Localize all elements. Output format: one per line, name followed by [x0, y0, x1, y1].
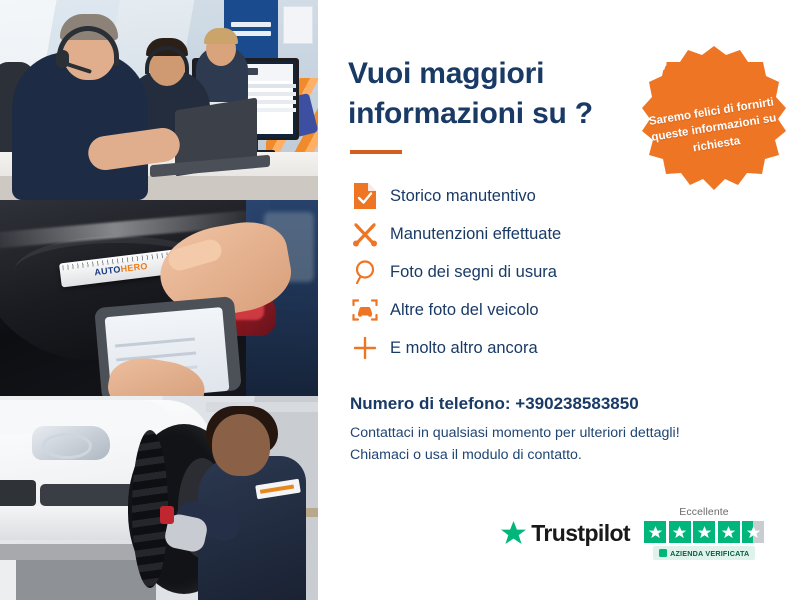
list-item: Manutenzioni effettuate — [350, 215, 760, 253]
page-title: Vuoi maggiori informazioni su ? — [348, 54, 648, 133]
verified-check-icon — [659, 549, 667, 557]
document-check-icon — [350, 181, 380, 211]
wall-poster — [283, 6, 313, 44]
car-headlight — [32, 426, 110, 460]
contact-note-line-1: Contattaci in qualsiasi momento per ulte… — [350, 423, 760, 445]
car-inspection-ruler-photo: AUTOHERO — [0, 200, 318, 396]
rating-label: Eccellente — [679, 506, 728, 518]
star-icon — [718, 521, 740, 543]
hand-tool — [160, 506, 174, 524]
list-item: Altre foto del veicolo — [350, 291, 760, 329]
phone-number-line[interactable]: Numero di telefono: +390238583850 — [350, 394, 760, 414]
trustpilot-widget[interactable]: Trustpilot Eccellente AZIENDA VERIFICATA — [500, 506, 764, 560]
star-icon — [644, 521, 666, 543]
mechanic-head — [212, 414, 270, 476]
car-lift-post — [16, 560, 156, 600]
title-underline — [350, 150, 402, 154]
list-item: Foto dei segni di usura — [350, 253, 760, 291]
list-item: E molto altro ancora — [350, 329, 760, 367]
star-icon — [669, 521, 691, 543]
call-center-agents-photo — [0, 0, 318, 200]
star-half-icon — [742, 521, 764, 543]
magnifier-icon — [350, 257, 380, 287]
contact-note: Contattaci in qualsiasi momento per ulte… — [350, 423, 760, 466]
plus-icon — [350, 333, 380, 363]
trustpilot-name: Trustpilot — [531, 520, 630, 547]
list-item-label: Altre foto del veicolo — [390, 301, 539, 320]
car-grille — [0, 480, 36, 506]
verified-company-badge: AZIENDA VERIFICATA — [653, 546, 756, 560]
brand-first: AUTO — [94, 264, 122, 277]
verified-label: AZIENDA VERIFICATA — [670, 549, 749, 558]
list-item-label: Manutenzioni effettuate — [390, 225, 561, 244]
brand-second: HERO — [120, 261, 148, 274]
content-panel: Vuoi maggiori informazioni su ? Saremo f… — [318, 0, 800, 600]
trustpilot-star-icon — [500, 520, 527, 547]
star-icon — [693, 521, 715, 543]
callout-badge: Saremo felici di fornirti queste informa… — [640, 44, 788, 194]
autohero-ruler-logo: AUTOHERO — [94, 261, 149, 277]
feature-list: Storico manutentivo Manutenzi — [350, 177, 760, 367]
car-frame-icon — [350, 295, 380, 325]
list-item-label: E molto altro ancora — [390, 339, 538, 358]
trustpilot-logo: Trustpilot — [500, 520, 630, 547]
tools-cross-icon — [350, 219, 380, 249]
agent-back-hair — [204, 28, 238, 44]
contact-note-line-2: Chiamaci o usa il modulo di contatto. — [350, 445, 760, 467]
mechanic-wheel-inspection-photo — [0, 396, 318, 600]
star-rating — [644, 521, 764, 543]
promo-banner: AUTOHERO — [0, 0, 800, 600]
photo-column: AUTOHERO — [0, 0, 318, 600]
list-item-label: Storico manutentivo — [390, 187, 536, 206]
list-item-label: Foto dei segni di usura — [390, 263, 557, 282]
trustpilot-rating: Eccellente AZIENDA VERIFICATA — [644, 506, 764, 560]
headset-icon — [640, 44, 668, 70]
